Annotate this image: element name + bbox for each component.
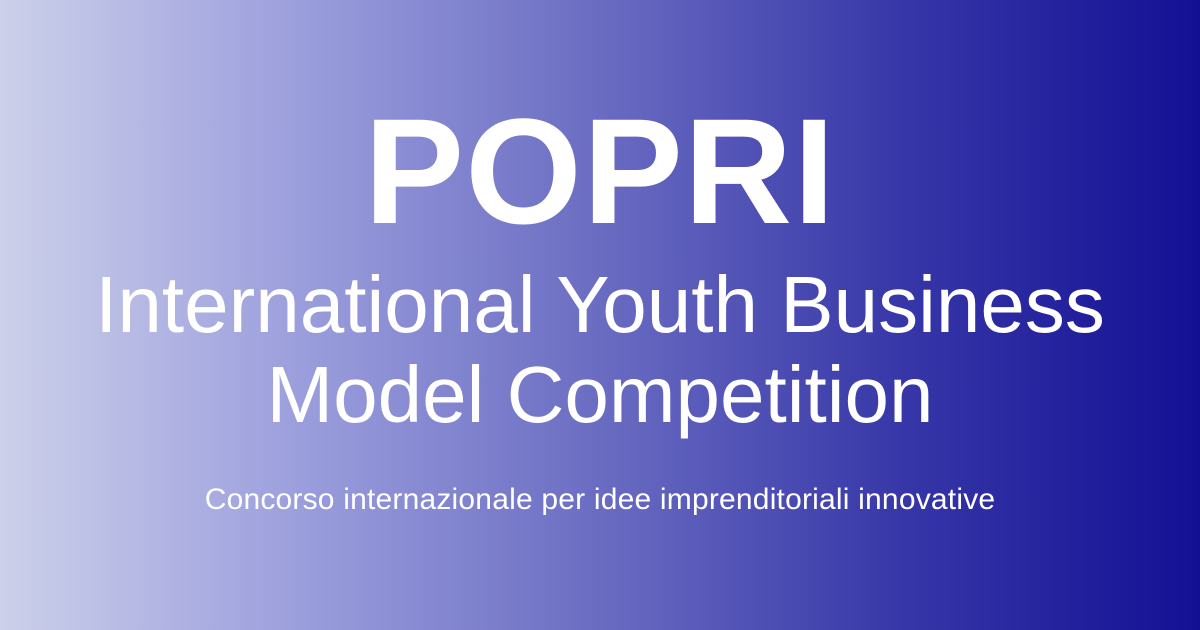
tagline-block: Concorso internazionale per idee imprend… <box>0 482 1200 518</box>
title-block: POPRI International Youth Business Model… <box>0 96 1200 439</box>
subtitle-line-1: International Youth Business <box>0 260 1200 350</box>
subtitle-line-2: Model Competition <box>0 350 1200 440</box>
tagline: Concorso internazionale per idee imprend… <box>0 482 1200 518</box>
promo-banner: POPRI International Youth Business Model… <box>0 0 1200 630</box>
brand-title: POPRI <box>0 96 1200 246</box>
subtitle: International Youth Business Model Compe… <box>0 246 1200 439</box>
